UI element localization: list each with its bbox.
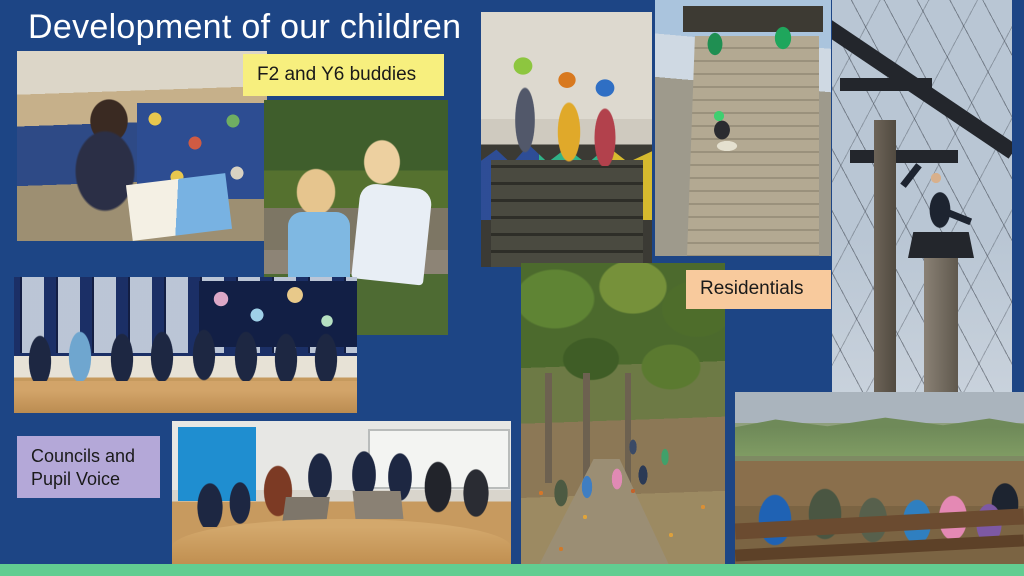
caption-residentials: Residentials	[686, 270, 831, 309]
abseiling-child	[707, 110, 743, 154]
high-ropes-beam-middle	[840, 78, 932, 91]
page-title: Development of our children	[28, 8, 461, 47]
pole-jumper	[910, 168, 972, 238]
caption-councils-pupil-voice-label: Councils and Pupil Voice	[31, 445, 135, 491]
photo-class-group	[14, 277, 357, 413]
picture-book	[126, 173, 232, 241]
caption-f2-y6-buddies: F2 and Y6 buddies	[243, 54, 444, 96]
harnessed-climbers	[493, 54, 643, 166]
photo-abseil-tower	[655, 0, 831, 256]
photo-reading-buddies-image	[17, 51, 267, 241]
caption-f2-y6-buddies-label: F2 and Y6 buddies	[257, 63, 416, 87]
fallen-leaves	[521, 473, 725, 565]
tower-top-crew	[697, 26, 817, 60]
photo-reading-buddies	[17, 51, 267, 241]
valley-hills	[735, 408, 1024, 456]
photo-crate-stacking	[481, 12, 652, 267]
photo-pupil-council-image	[172, 421, 511, 565]
climbing-pole	[924, 250, 958, 395]
caption-residentials-label: Residentials	[700, 277, 804, 301]
photo-pole-jump	[832, 0, 1012, 395]
child-white-polo	[351, 182, 433, 285]
photo-pupil-council	[172, 421, 511, 565]
photo-abseil-tower-image	[655, 0, 831, 256]
council-members	[172, 443, 511, 527]
photo-moorland-bench	[735, 392, 1024, 565]
timber-post	[874, 120, 896, 395]
presentation-slide: Development of our children F2 and Y6 bu…	[0, 0, 1024, 576]
photo-pole-jump-image	[832, 0, 1012, 395]
photo-moorland-bench-image	[735, 392, 1024, 565]
photo-crate-stacking-image	[481, 12, 652, 267]
classroom-desk	[14, 381, 357, 413]
caption-councils-pupil-voice: Councils and Pupil Voice	[17, 436, 160, 498]
high-ropes-beam-lower	[850, 150, 958, 163]
crate-stack	[491, 160, 643, 267]
bottom-accent-bar	[0, 564, 1024, 576]
laptop-right	[353, 491, 404, 519]
photo-class-group-image	[14, 277, 357, 413]
class-group-children	[14, 317, 357, 389]
